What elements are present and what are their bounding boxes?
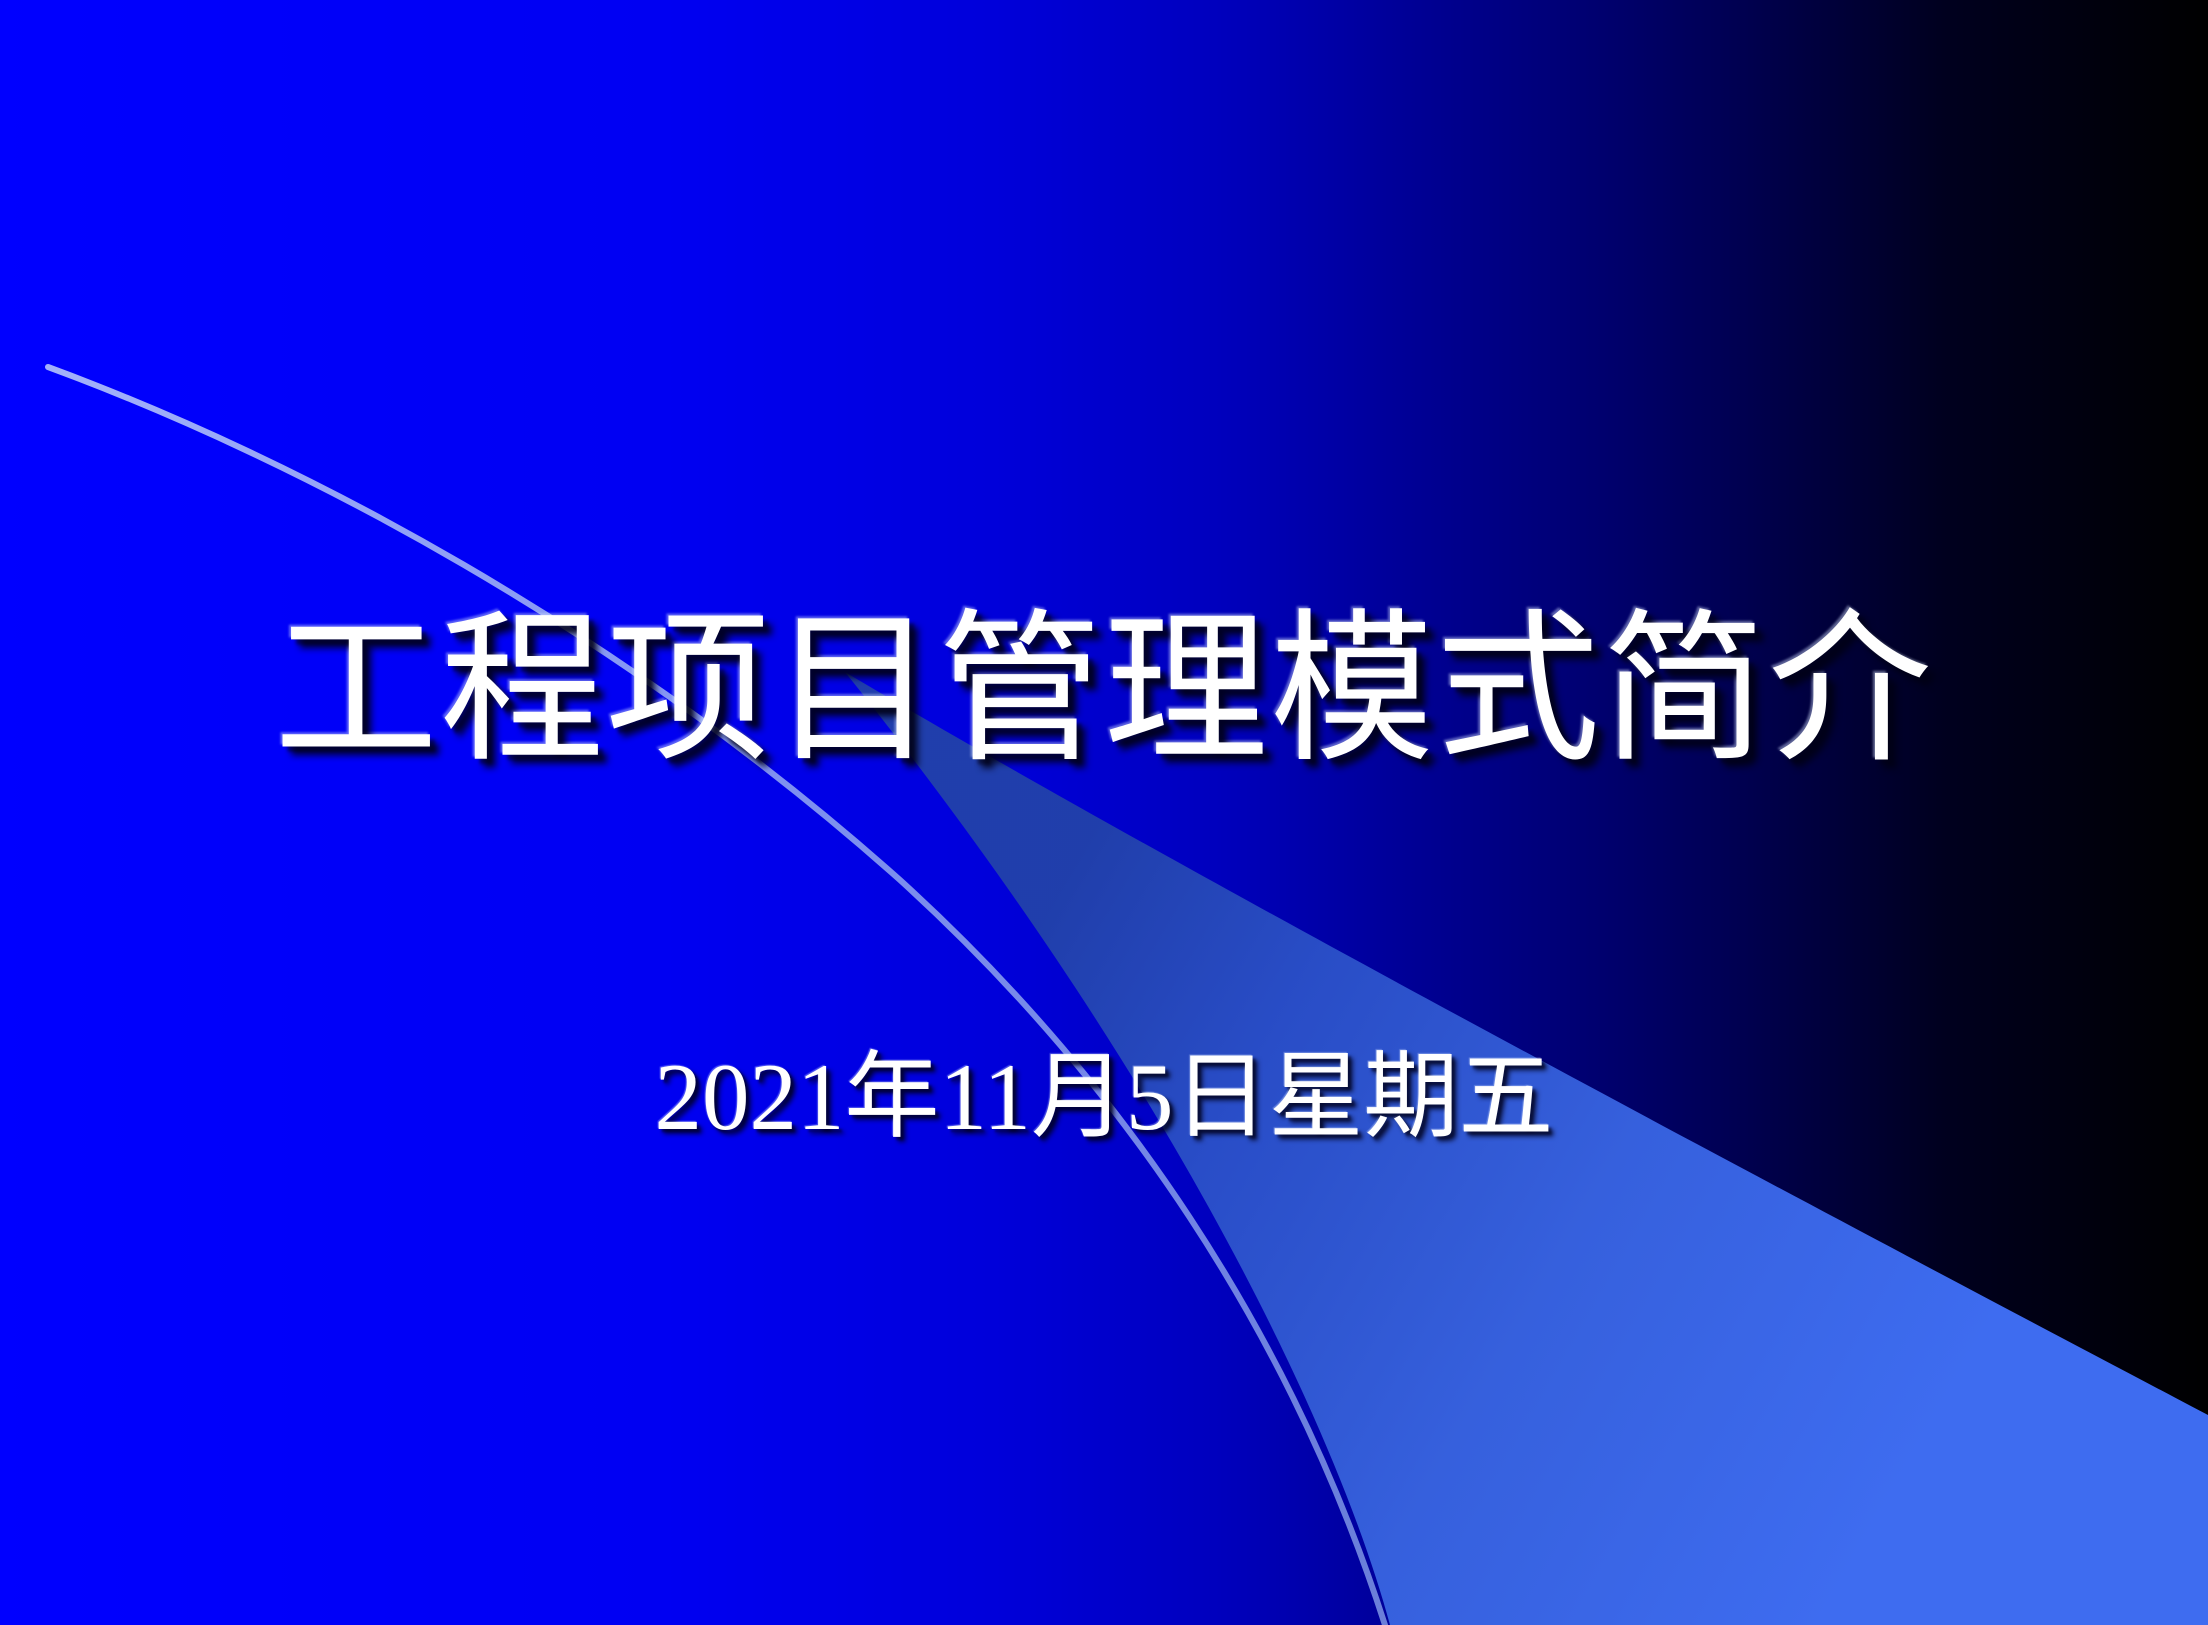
presentation-slide: 工程项目管理模式简介 2021年11月5日星期五 [0, 0, 2208, 1625]
slide-text-layer: 工程项目管理模式简介 2021年11月5日星期五 [0, 0, 2208, 1625]
slide-date-subtitle: 2021年11月5日星期五 [655, 1050, 1554, 1145]
subtitle-placeholder[interactable]: 2021年11月5日星期五 [0, 1050, 2208, 1145]
title-placeholder[interactable]: 工程项目管理模式简介 [0, 500, 2208, 884]
page-title: 工程项目管理模式简介 [274, 610, 1934, 774]
